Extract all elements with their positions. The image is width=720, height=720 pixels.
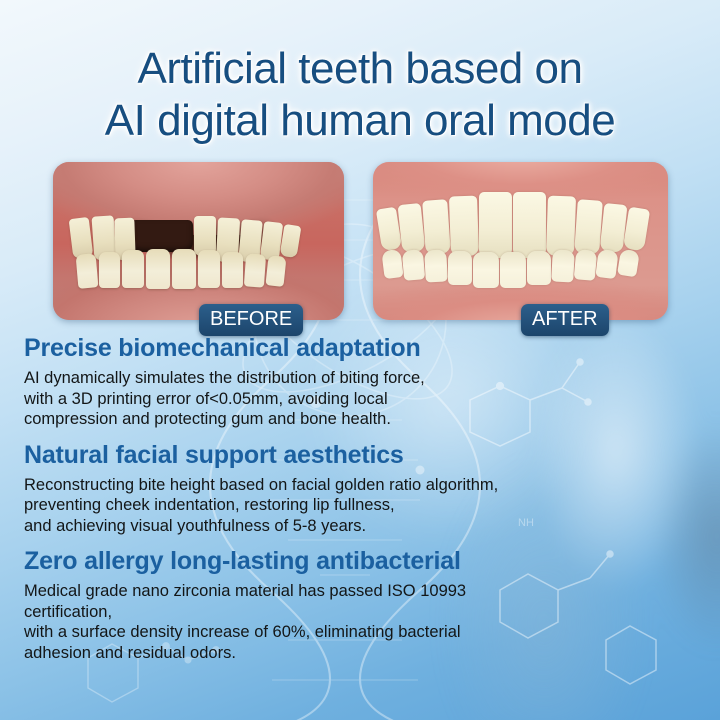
- tooth: [76, 253, 99, 289]
- tooth: [500, 252, 526, 288]
- tooth: [99, 252, 120, 288]
- tooth: [600, 203, 628, 253]
- tooth: [265, 255, 286, 287]
- tooth: [527, 251, 551, 285]
- tooth: [479, 192, 512, 258]
- tooth: [198, 250, 220, 288]
- tooth: [617, 249, 640, 278]
- feature-body-line: compression and protecting gum and bone …: [24, 409, 696, 430]
- feature-body-line: Medical grade nano zirconia material has…: [24, 581, 696, 602]
- feature-body-line: adhesion and residual odors.: [24, 643, 696, 664]
- tooth: [402, 249, 426, 281]
- after-photo: [373, 162, 668, 320]
- feature-body-line: certification,: [24, 602, 696, 623]
- tooth: [449, 196, 479, 257]
- feature-body-line: and achieving visual youthfulness of 5-8…: [24, 516, 696, 537]
- tooth: [513, 192, 546, 258]
- feature-body-line: with a 3D printing error of<0.05mm, avoi…: [24, 389, 696, 410]
- tooth: [244, 253, 266, 287]
- tooth: [122, 250, 144, 288]
- tooth: [280, 224, 302, 258]
- before-after-comparison: BEFORE AFTER: [0, 162, 720, 320]
- feature-list: Precise biomechanical adaptation AI dyna…: [24, 332, 696, 672]
- feature-block-1: Precise biomechanical adaptation AI dyna…: [24, 332, 696, 430]
- tooth: [422, 199, 451, 255]
- title-line-1: Artificial teeth based on: [0, 43, 720, 95]
- tooth: [222, 252, 243, 288]
- poster-canvas: NH Artificial teeth based on AI digital …: [0, 0, 720, 720]
- tooth: [595, 249, 618, 279]
- tooth: [381, 249, 403, 279]
- feature-block-3: Zero allergy long-lasting antibacterial …: [24, 545, 696, 663]
- feature-body-line: preventing cheek indentation, restoring …: [24, 495, 696, 516]
- feature-body-2: Reconstructing bite height based on faci…: [24, 475, 696, 537]
- after-mouth-image: [373, 162, 668, 320]
- feature-body-1: AI dynamically simulates the distributio…: [24, 368, 696, 430]
- tooth: [551, 249, 575, 282]
- tooth: [574, 249, 598, 281]
- tooth: [546, 196, 576, 257]
- before-missing-tooth-gap: [131, 220, 193, 252]
- title-line-2: AI digital human oral mode: [0, 95, 720, 147]
- tooth: [398, 203, 426, 253]
- tooth: [623, 207, 650, 252]
- feature-body-line: with a surface density increase of 60%, …: [24, 622, 696, 643]
- tooth: [172, 249, 196, 289]
- feature-body-3: Medical grade nano zirconia material has…: [24, 581, 696, 663]
- feature-block-2: Natural facial support aesthetics Recons…: [24, 439, 696, 537]
- tooth: [448, 251, 472, 285]
- tooth: [424, 249, 448, 282]
- feature-body-line: AI dynamically simulates the distributio…: [24, 368, 696, 389]
- tooth: [473, 252, 499, 288]
- feature-heading-2: Natural facial support aesthetics: [24, 439, 696, 472]
- feature-heading-3: Zero allergy long-lasting antibacterial: [24, 545, 696, 578]
- before-photo: [53, 162, 344, 320]
- page-title: Artificial teeth based on AI digital hum…: [0, 43, 720, 147]
- before-mouth-image: [53, 162, 344, 320]
- feature-heading-1: Precise biomechanical adaptation: [24, 332, 696, 365]
- tooth: [146, 249, 170, 289]
- tooth: [574, 199, 603, 255]
- feature-body-line: Reconstructing bite height based on faci…: [24, 475, 696, 496]
